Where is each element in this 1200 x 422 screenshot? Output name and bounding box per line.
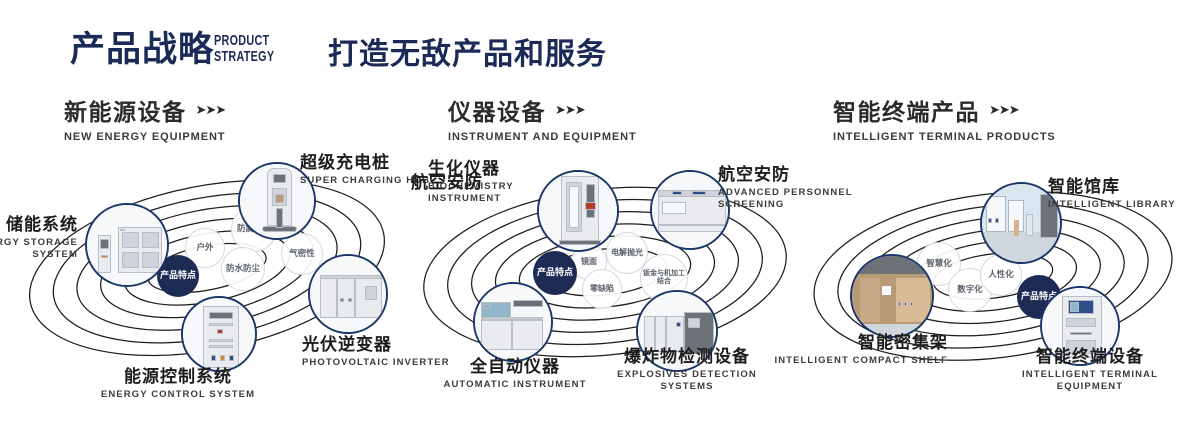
section-title-en: NEW ENERGY EQUIPMENT xyxy=(64,131,225,143)
feature-bubble: 零缺陷 xyxy=(582,269,622,309)
chevrons-icon: ➤➤➤ xyxy=(196,102,226,118)
section-title-cn: 智能终端产品 xyxy=(833,98,980,126)
label-energy-control-system: 能源控制系统 ENERGY CONTROL SYSTEM xyxy=(78,366,278,401)
page-title-en: PRODUCT STRATEGY xyxy=(214,33,274,65)
node-automatic-instrument[interactable] xyxy=(473,282,553,362)
diagram-instrument: 镜面 电解抛光 钣金与机加工结合 零缺陷 产品特点 生化仪器 BIOCHEMIS… xyxy=(400,150,820,412)
page-header: 产品战略 PRODUCT STRATEGY 打造无敌产品和服务 xyxy=(0,0,1200,88)
page-title-en-line1: PRODUCT xyxy=(214,33,274,49)
page-slogan: 打造无敌产品和服务 xyxy=(328,34,607,76)
section-title-cn: 新能源设备 xyxy=(64,98,187,126)
screening-machine-photo xyxy=(652,172,728,248)
label-en: EXPLOSIVES DETECTION SYSTEMS xyxy=(592,369,782,393)
label-energy-storage: 储能系统 ENERGY STORAGE SYSTEM xyxy=(0,214,78,261)
node-intelligent-compact-shelf[interactable] xyxy=(850,254,934,338)
section-title-terminal: 智能终端产品➤➤➤ INTELLIGENT TERMINAL PRODUCTS xyxy=(833,98,1056,143)
automatic-analyzer-photo xyxy=(475,284,551,360)
label-cn: 智能馆库 xyxy=(1048,176,1200,197)
chevrons-icon: ➤➤➤ xyxy=(989,102,1019,118)
section-title-instrument: 仪器设备➤➤➤ INSTRUMENT AND EQUIPMENT xyxy=(448,98,637,143)
label-cn: 储能系统 xyxy=(0,214,78,235)
node-energy-storage[interactable] xyxy=(85,203,169,287)
node-photovoltaic-inverter[interactable] xyxy=(308,254,388,334)
label-cn: 爆炸物检测设备 xyxy=(592,346,782,367)
label-cn: 智能终端设备 xyxy=(990,346,1190,367)
diagram-new-energy: 户外 防腐防锈 气密性 防水防尘 产品特点 储能系统 ENERGY STORAG… xyxy=(0,150,420,412)
label-cn: 能源控制系统 xyxy=(78,366,278,387)
label-en: ENERGY STORAGE SYSTEM xyxy=(0,237,78,261)
control-cabinet-photo xyxy=(183,298,255,370)
section-title-cn: 仪器设备 xyxy=(448,98,546,126)
chevrons-icon: ➤➤➤ xyxy=(555,102,585,118)
label-explosives-detection: 爆炸物检测设备 EXPLOSIVES DETECTION SYSTEMS xyxy=(592,346,782,393)
diagram-terminal: 智慧化 数字化 人性化 产品特点 智能馆库 INTELLIGENT LIBRAR… xyxy=(790,150,1200,412)
compact-shelf-photo xyxy=(852,256,932,336)
label-cn: 智能密集架 xyxy=(768,332,948,353)
label-cn: 航空安防 xyxy=(411,172,501,193)
label-en: ENERGY CONTROL SYSTEM xyxy=(78,389,278,401)
inverter-cabinet-photo xyxy=(310,256,386,332)
page-title-en-line2: STRATEGY xyxy=(214,49,274,65)
feature-bubble: 防水防尘 xyxy=(221,247,265,291)
section-title-en: INSTRUMENT AND EQUIPMENT xyxy=(448,131,637,143)
battery-cabinet-photo xyxy=(87,205,167,285)
label-intelligent-compact-shelf: 智能密集架 INTELLIGENT COMPACT SHELF xyxy=(768,332,948,367)
label-en: INTELLIGENT TERMINAL EQUIPMENT xyxy=(990,369,1190,393)
section-title-new-energy: 新能源设备➤➤➤ NEW ENERGY EQUIPMENT xyxy=(64,98,225,143)
label-en: INTELLIGENT COMPACT SHELF xyxy=(768,355,948,367)
label-intelligent-library: 智能馆库 INTELLIGENT LIBRARY xyxy=(1048,176,1200,211)
product-strategy-infographic: 产品战略 PRODUCT STRATEGY 打造无敌产品和服务 新能源设备➤➤➤… xyxy=(0,0,1200,422)
page-title-cn: 产品战略 xyxy=(70,28,214,72)
label-en: INTELLIGENT LIBRARY xyxy=(1048,199,1200,211)
label-cn: 全自动仪器 xyxy=(430,356,600,377)
node-energy-control-system[interactable] xyxy=(181,296,257,372)
label-automatic-instrument: 全自动仪器 AUTOMATIC INSTRUMENT xyxy=(430,356,600,391)
label-en: AUTOMATIC INSTRUMENT xyxy=(430,379,600,391)
section-title-en: INTELLIGENT TERMINAL PRODUCTS xyxy=(833,131,1056,143)
label-intelligent-terminal-equipment: 智能终端设备 INTELLIGENT TERMINAL EQUIPMENT xyxy=(990,346,1190,393)
label-aviation-security-left: 航空安防 xyxy=(411,172,501,193)
